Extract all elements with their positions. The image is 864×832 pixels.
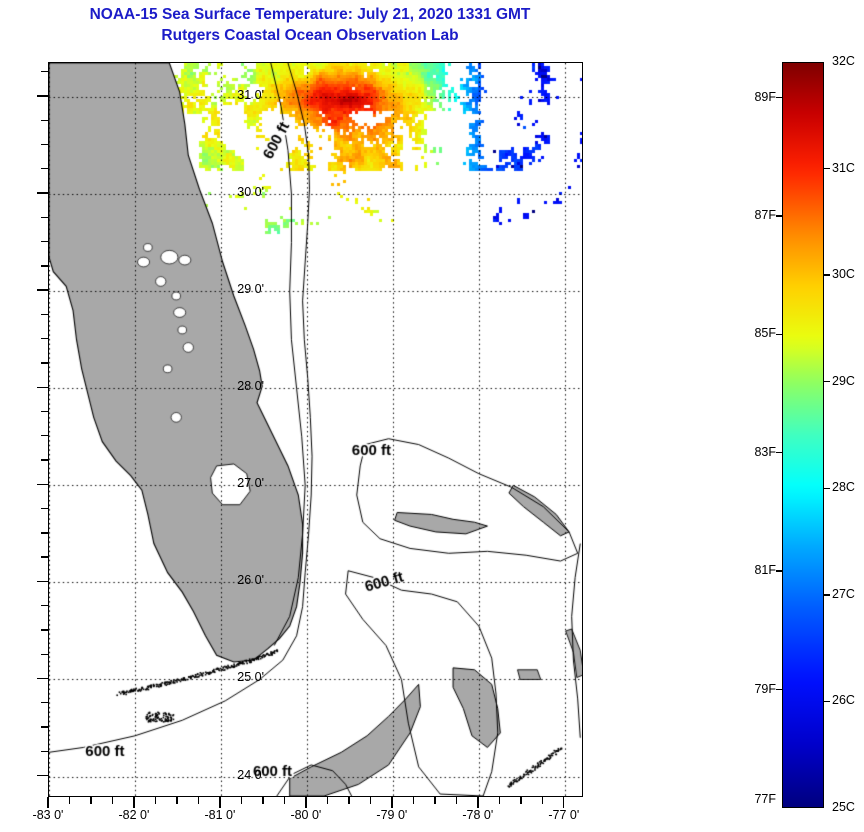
colorbar-tick-c: [824, 381, 830, 382]
y-tick-minor: [41, 508, 48, 509]
x-tick-major: [391, 797, 392, 808]
y-axis-label: 30 0': [212, 185, 264, 199]
y-axis-label: 28 0': [212, 379, 264, 393]
colorbar-tick-f: [776, 215, 782, 216]
y-tick-minor: [41, 71, 48, 72]
colorbar-tick-c: [824, 701, 830, 702]
colorbar-gradient: [782, 62, 824, 808]
y-axis-label: 25 0': [212, 670, 264, 684]
x-tick-major: [563, 797, 564, 808]
colorbar-label-fahrenheit: 77F: [732, 792, 776, 806]
y-tick-minor: [41, 314, 48, 315]
x-axis-label: -78 0': [462, 808, 493, 822]
x-tick-minor: [348, 797, 349, 804]
y-tick-minor: [41, 702, 48, 703]
colorbar-label-celsius: 30C: [832, 267, 855, 281]
colorbar-label-fahrenheit: 83F: [732, 445, 776, 459]
y-tick-major: [37, 484, 48, 485]
y-tick-minor: [41, 217, 48, 218]
colorbar-tick-f: [776, 689, 782, 690]
x-tick-minor: [542, 797, 543, 804]
y-tick-minor: [41, 629, 48, 630]
y-tick-minor: [41, 556, 48, 557]
y-tick-minor: [41, 338, 48, 339]
colorbar-label-fahrenheit: 87F: [732, 208, 776, 222]
x-tick-minor: [241, 797, 242, 804]
colorbar-label-fahrenheit: 81F: [732, 563, 776, 577]
y-tick-minor: [41, 265, 48, 266]
x-tick-major: [47, 797, 48, 808]
y-axis-label: 24 0': [212, 768, 264, 782]
y-tick-major: [37, 678, 48, 679]
colorbar-tick-c: [824, 168, 830, 169]
colorbar-label-fahrenheit: 85F: [732, 326, 776, 340]
x-axis-label: -82 0': [119, 808, 150, 822]
x-tick-minor: [499, 797, 500, 804]
x-tick-minor: [284, 797, 285, 804]
x-axis-label: -80 0': [290, 808, 321, 822]
colorbar-tick-f: [776, 452, 782, 453]
y-tick-major: [37, 581, 48, 582]
colorbar-tick-f: [776, 97, 782, 98]
y-tick-minor: [41, 654, 48, 655]
y-tick-minor: [41, 241, 48, 242]
x-tick-minor: [434, 797, 435, 804]
y-tick-minor: [41, 435, 48, 436]
colorbar-label-celsius: 27C: [832, 587, 855, 601]
y-tick-major: [37, 289, 48, 290]
y-tick-minor: [41, 362, 48, 363]
y-tick-minor: [41, 532, 48, 533]
y-tick-minor: [41, 168, 48, 169]
x-tick-major: [305, 797, 306, 808]
y-tick-major: [37, 387, 48, 388]
x-tick-minor: [413, 797, 414, 804]
x-tick-minor: [155, 797, 156, 804]
title-line-primary: NOAA-15 Sea Surface Temperature: July 21…: [0, 4, 620, 25]
colorbar-label-fahrenheit: 79F: [732, 682, 776, 696]
colorbar-label-celsius: 25C: [832, 800, 855, 814]
x-tick-minor: [176, 797, 177, 804]
colorbar-tick-f: [776, 570, 782, 571]
y-axis-label: 29 0': [212, 282, 264, 296]
colorbar-label-celsius: 31C: [832, 161, 855, 175]
x-tick-minor: [327, 797, 328, 804]
y-tick-minor: [41, 144, 48, 145]
y-axis-label: 27 0': [212, 476, 264, 490]
x-tick-major: [477, 797, 478, 808]
x-axis-label: -79 0': [376, 808, 407, 822]
page-title: NOAA-15 Sea Surface Temperature: July 21…: [0, 4, 620, 46]
x-tick-minor: [90, 797, 91, 804]
colorbar-tick-c: [824, 274, 830, 275]
x-tick-major: [219, 797, 220, 808]
x-tick-minor: [370, 797, 371, 804]
sst-map-plot: [48, 62, 583, 797]
x-tick-minor: [456, 797, 457, 804]
y-tick-minor: [41, 751, 48, 752]
colorbar-label-celsius: 32C: [832, 54, 855, 68]
y-tick-minor: [41, 120, 48, 121]
y-tick-major: [37, 775, 48, 776]
colorbar-label-celsius: 29C: [832, 374, 855, 388]
y-tick-minor: [41, 411, 48, 412]
y-tick-minor: [41, 459, 48, 460]
colorbar-label-celsius: 28C: [832, 480, 855, 494]
colorbar-tick-f: [776, 334, 782, 335]
colorbar: 25C26C27C28C29C30C31C32C77F79F81F83F85F8…: [782, 62, 824, 808]
title-line-secondary: Rutgers Coastal Ocean Observation Lab: [0, 25, 620, 46]
y-tick-minor: [41, 726, 48, 727]
x-tick-minor: [262, 797, 263, 804]
colorbar-label-fahrenheit: 89F: [732, 90, 776, 104]
x-tick-minor: [112, 797, 113, 804]
y-axis-label: 31 0': [212, 88, 264, 102]
y-axis-label: 26 0': [212, 573, 264, 587]
x-axis-label: -81 0': [204, 808, 235, 822]
x-tick-minor: [69, 797, 70, 804]
y-tick-major: [37, 192, 48, 193]
y-tick-major: [37, 95, 48, 96]
colorbar-tick-c: [824, 488, 830, 489]
x-tick-minor: [198, 797, 199, 804]
x-tick-minor: [520, 797, 521, 804]
x-tick-major: [133, 797, 134, 808]
colorbar-tick-c: [824, 594, 830, 595]
colorbar-label-celsius: 26C: [832, 693, 855, 707]
sst-heatmap-canvas: [49, 63, 582, 796]
x-axis-label: -77 0': [548, 808, 579, 822]
x-axis-label: -83 0': [33, 808, 64, 822]
y-tick-minor: [41, 605, 48, 606]
